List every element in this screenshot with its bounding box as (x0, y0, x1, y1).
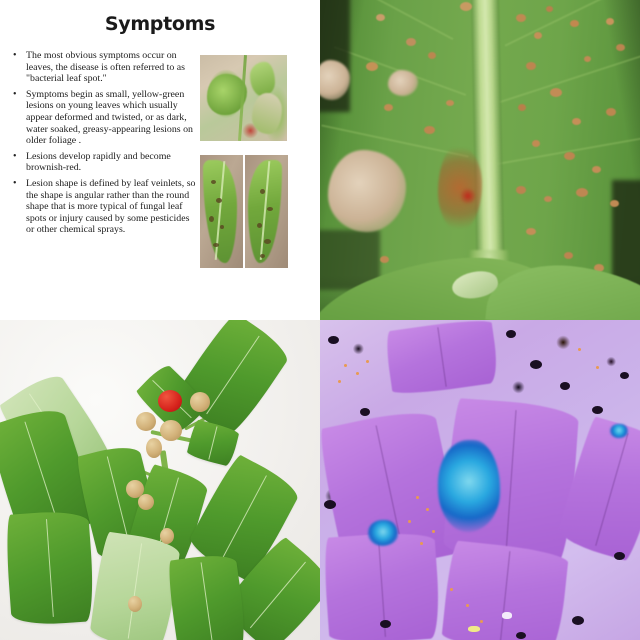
list-item-text: The most obvious symptoms occur on leave… (26, 50, 197, 85)
lesion-spot (526, 228, 536, 235)
lesion-spot (257, 223, 262, 228)
dark-speck (380, 620, 391, 628)
leaf-midvein (505, 410, 516, 554)
list-item: • Lesions develop rapidly and become bro… (11, 151, 197, 174)
lesion-spot (264, 239, 271, 244)
leaf-shape (441, 540, 569, 640)
leaf-vein (499, 55, 640, 103)
lesion-spot (592, 166, 601, 173)
dark-speck (530, 360, 542, 369)
false-color-leaf-photo (320, 320, 640, 640)
leaf-midvein (250, 562, 306, 629)
lesion-spot (544, 196, 552, 202)
orange-speck (338, 380, 341, 383)
lesion-leaf-left-panel (200, 155, 243, 268)
leaf-midvein (208, 427, 217, 460)
page-title: Symptoms (0, 13, 320, 35)
lesion-spot (446, 100, 454, 106)
lesion-spot (606, 108, 616, 116)
lesion-spot (526, 62, 536, 70)
lesion-spot (610, 200, 619, 207)
lesion-spot (606, 18, 614, 25)
list-item-text: Symptoms begin as small, yellow-green le… (26, 89, 197, 147)
dark-speck (324, 500, 336, 509)
unripe-berry (160, 420, 182, 441)
lesion-leaf-right-panel (245, 155, 288, 268)
dark-speck (614, 552, 625, 560)
list-item-text: Lesion shape is defined by leaf veinlets… (26, 178, 197, 236)
necrotic-blotch (388, 70, 418, 96)
dark-speck (572, 616, 584, 625)
leaf-shape (166, 552, 249, 640)
dark-speck (506, 330, 516, 338)
orange-speck (432, 530, 435, 533)
bullet-marker: • (13, 177, 17, 190)
orange-speck (578, 348, 581, 351)
raspberry-plant-photo (0, 320, 320, 640)
dark-speck (560, 382, 570, 390)
unripe-berry (146, 438, 162, 458)
leaf-shape (252, 93, 282, 134)
leaf-midvein (437, 328, 446, 387)
lesion-spot (428, 52, 436, 59)
lesion-spot (546, 6, 553, 12)
lesion-spot (564, 152, 575, 160)
leaf-midrib (471, 0, 505, 288)
orange-speck (596, 366, 599, 369)
leaf-midvein (128, 543, 143, 639)
lesion-spot (584, 56, 591, 62)
orange-speck (420, 542, 423, 545)
orange-speck (344, 364, 347, 367)
unripe-berry (160, 528, 174, 544)
panel-divider (243, 155, 245, 268)
quadrant-diseased-leaf-closeup (320, 0, 640, 320)
leaf-shape (384, 320, 500, 397)
orange-speck (356, 372, 359, 375)
leaf-vein (497, 137, 640, 165)
lesion-spot (209, 216, 214, 222)
orange-speck (416, 496, 419, 499)
symptoms-bullet-list: • The most obvious symptoms occur on lea… (11, 50, 197, 240)
bullet-marker: • (13, 88, 17, 101)
dark-speck (360, 408, 370, 416)
lesion-spot (220, 225, 224, 229)
bullet-marker: • (13, 49, 17, 62)
leaf-midvein (206, 336, 259, 414)
unripe-berry (138, 494, 154, 510)
quadrant-false-color-leaf (320, 320, 640, 640)
bullet-marker: • (13, 150, 17, 163)
list-item: • The most obvious symptoms occur on lea… (11, 50, 197, 85)
leaf-midvein (201, 562, 214, 640)
lesion-spot (564, 252, 573, 259)
leaf-midvein (25, 422, 60, 526)
leaf-vein (347, 0, 454, 40)
angular-lesion-leaves-photo (200, 155, 288, 268)
dark-speck (328, 336, 339, 344)
orange-speck (466, 604, 469, 607)
lesion-spot (460, 2, 472, 11)
orange-speck (480, 620, 483, 623)
lesion-spot (532, 140, 540, 147)
leaf-midvein (221, 476, 267, 560)
lesion-spot (406, 38, 416, 46)
quadrant-raspberry-plant (0, 320, 320, 640)
list-item: • Lesion shape is defined by leaf veinle… (11, 178, 197, 236)
lesion-spot (516, 186, 526, 194)
lesion-spot (260, 189, 265, 194)
orange-speck (408, 520, 411, 523)
ripe-berry (158, 390, 182, 412)
lesion-spot (576, 188, 588, 197)
symptoms-slide: Symptoms • The most obvious symptoms occ… (0, 0, 320, 320)
cyan-lesion-spot (610, 424, 628, 438)
unripe-berry (190, 392, 210, 412)
dark-speck (516, 632, 526, 639)
light-speck (468, 626, 480, 632)
lesion-spot (424, 126, 435, 134)
leaf-midvein (595, 433, 628, 546)
cyan-lesion-spot (368, 520, 398, 546)
orange-speck (366, 360, 369, 363)
light-speck (502, 612, 512, 619)
lesion-spot (534, 32, 542, 39)
diseased-leaf-closeup-photo (320, 0, 640, 320)
orange-speck (450, 588, 453, 591)
lesion-spot (380, 256, 389, 263)
lesion-spot (572, 118, 581, 125)
list-item: • Symptoms begin as small, yellow-green … (11, 89, 197, 147)
lesion-spot (516, 14, 526, 22)
lesion-spot (376, 14, 385, 21)
dark-speck (592, 406, 603, 414)
orange-speck (426, 508, 429, 511)
cyan-lesion-spot (438, 440, 500, 532)
leaf-midvein (500, 551, 511, 640)
unripe-berry (136, 412, 156, 431)
necrotic-blotch (328, 150, 406, 232)
lesion-spot (616, 44, 625, 51)
quadrant-symptoms-slide: Symptoms • The most obvious symptoms occ… (0, 0, 320, 320)
deformed-young-leaves-photo (200, 55, 287, 141)
lesion-spot (384, 104, 393, 111)
image-grid: Symptoms • The most obvious symptoms occ… (0, 0, 640, 640)
lesion-spot (366, 62, 378, 71)
leaf-midvein (46, 519, 54, 617)
lesion-spot (518, 104, 526, 111)
list-item-text: Lesions develop rapidly and become brown… (26, 151, 197, 174)
dark-speck (620, 372, 629, 379)
lesion-spot (550, 88, 562, 97)
leaf-shape (4, 509, 96, 627)
unripe-berry (128, 596, 142, 612)
leaf-shape (250, 62, 274, 96)
lesion-spot (267, 207, 273, 211)
lesion-spot (570, 20, 579, 27)
lesion-spot (211, 180, 216, 184)
